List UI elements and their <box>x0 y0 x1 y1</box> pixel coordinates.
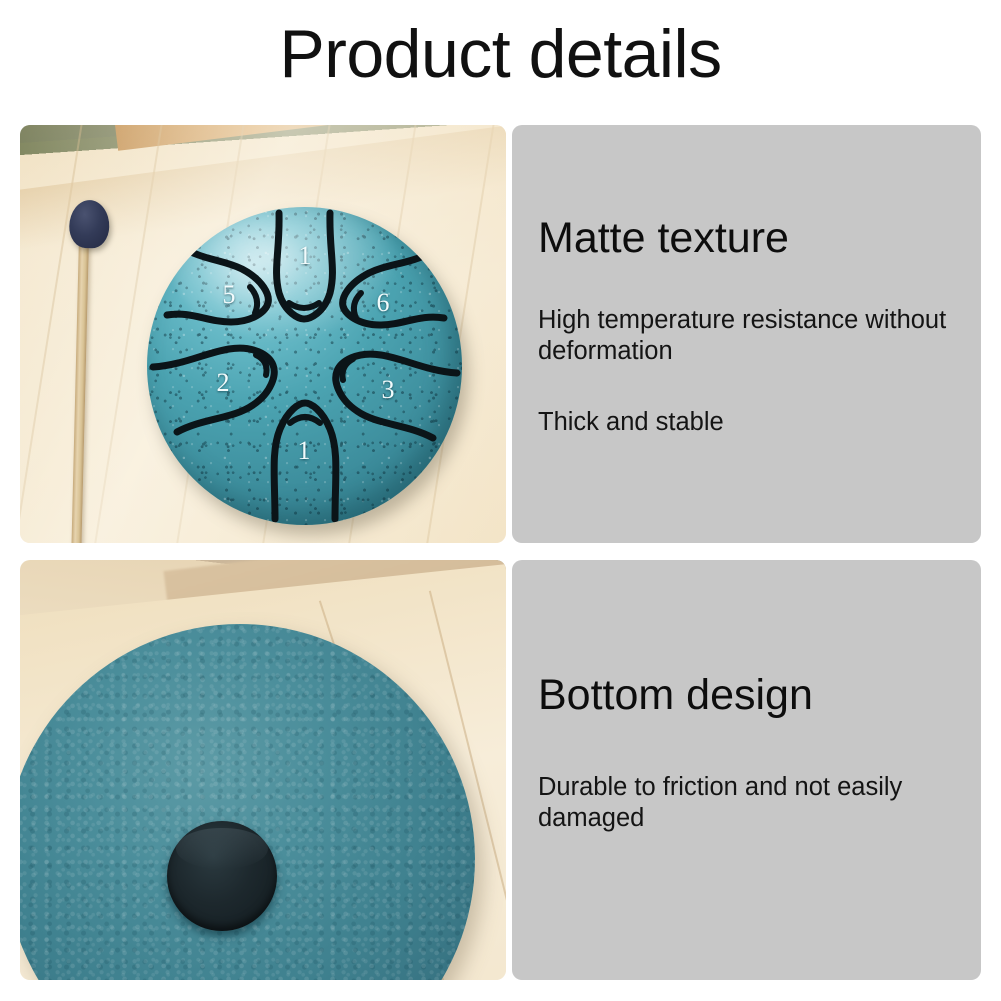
drum-bottom-view-photo <box>20 560 506 980</box>
matte-texture-body-line-2: Thick and stable <box>538 407 958 438</box>
matte-texture-heading: Matte texture <box>538 213 789 263</box>
feature-panel-bottom-design: Bottom design Durable to friction and no… <box>20 560 981 980</box>
tongue-cut-lines-icon <box>147 207 462 525</box>
matte-texture-text-card: Matte texture High temperature resistanc… <box>512 125 981 543</box>
mallet-head-icon <box>69 200 110 249</box>
bottom-design-body-line-1: Durable to friction and not easily damag… <box>538 772 958 834</box>
bottom-design-heading: Bottom design <box>538 670 813 720</box>
steel-tongue-drum-top: 1 5 6 2 3 1 <box>147 207 462 525</box>
bottom-design-text-card: Bottom design Durable to friction and no… <box>512 560 981 980</box>
rubber-foot-pad <box>167 821 277 931</box>
matte-texture-body-line-1: High temperature resistance without defo… <box>538 305 958 367</box>
feature-panel-matte-texture: 1 5 6 2 3 1 Matte texture High temperatu… <box>20 125 981 543</box>
drum-top-view-photo: 1 5 6 2 3 1 <box>20 125 506 543</box>
page-title: Product details <box>0 6 1001 102</box>
mallet-shaft-icon <box>71 232 89 543</box>
